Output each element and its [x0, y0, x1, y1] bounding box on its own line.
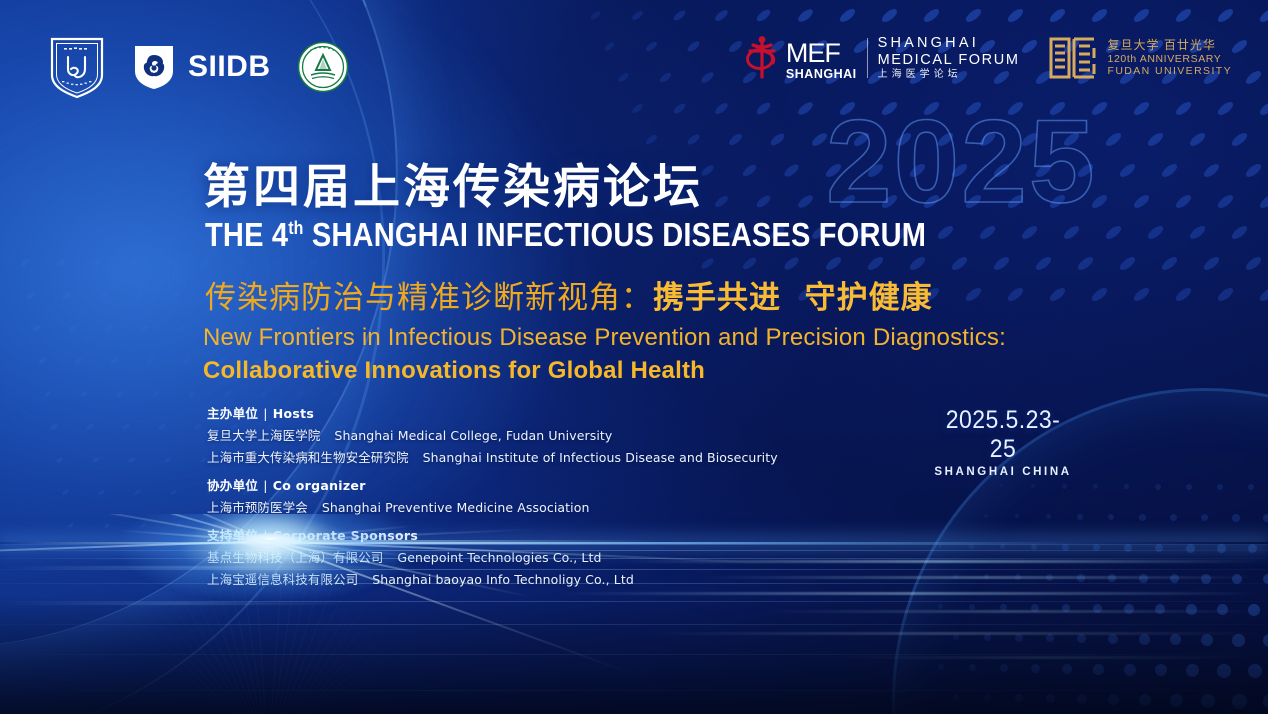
subtitle-cn-emphasis-2: 守护健康: [805, 280, 933, 316]
siidb-logo: SIIDB: [132, 43, 271, 91]
subtitle-english-line1: New Frontiers in Infectious Disease Prev…: [203, 324, 1006, 352]
organizer-heading-divider: |: [263, 478, 268, 493]
subtitle-cn-lead: 传染病防治与精准诊断新视角：: [205, 280, 653, 316]
fudan-university-en: FUDAN UNIVERSITY: [1108, 65, 1233, 78]
shanghai-medical-forum-logo: MEF SHANGHAI SHANGHAI MEDICAL FORUM 上海医学…: [740, 35, 1020, 81]
mef-chinese-text: 上海医学论坛: [878, 69, 1020, 81]
organizer-entry-cn: 上海市重大传染病和生物安全研究院: [207, 450, 409, 465]
siidb-shield-icon: [132, 43, 176, 91]
organizer-entry-cn: 复旦大学上海医学院: [207, 428, 320, 443]
mef-caduceus-icon: [740, 35, 784, 81]
page-title-chinese: 第四届上海传染病论坛: [203, 148, 703, 217]
organizer-entry-en: Shanghai Medical College, Fudan Universi…: [334, 428, 612, 443]
year-watermark: 2025: [826, 103, 1097, 221]
fudan-anniversary-en: 120th ANNIVERSARY: [1108, 53, 1233, 66]
shanghai-medical-college-fudan-crest-icon: [48, 36, 106, 98]
page-title-english: THE 4th SHANGHAI INFECTIOUS DISEASES FOR…: [205, 216, 926, 254]
subtitle-chinese: 传染病防治与精准诊断新视角：携手共进 守护健康: [205, 272, 933, 317]
organizer-entry-cn: 上海市预防医学会: [207, 500, 308, 515]
fudan-seal-glyph-icon: [1048, 34, 1098, 82]
light-streak: [0, 566, 420, 569]
light-streak: [620, 560, 1260, 563]
bottom-light-scene: [0, 514, 1268, 714]
right-logo-bar: MEF SHANGHAI SHANGHAI MEDICAL FORUM 上海医学…: [740, 34, 1232, 82]
organizer-heading: 协办单位|Co organizer: [207, 475, 778, 494]
title-en-prefix: THE 4: [205, 216, 288, 253]
organizer-heading-en: Hosts: [273, 406, 314, 421]
event-date-block: 2025.5.23-25 SHANGHAI CHINA: [933, 406, 1073, 478]
light-streak: [700, 576, 1260, 579]
organizer-heading-divider: |: [263, 406, 268, 421]
organizer-entry: 上海市重大传染病和生物安全研究院Shanghai Institute of In…: [207, 447, 778, 466]
organizer-heading-cn: 协办单位: [207, 478, 258, 493]
fudan-anniversary-cn: 复旦大学 百廿光华: [1108, 38, 1233, 53]
organizer-entry: 复旦大学上海医学院Shanghai Medical College, Fudan…: [207, 425, 778, 444]
light-burst: [118, 514, 418, 602]
organizer-heading-en: Co organizer: [273, 478, 366, 493]
organizer-entry-en: Shanghai Institute of Infectious Disease…: [423, 450, 778, 465]
organizer-heading: 主办单位|Hosts: [207, 403, 778, 422]
mef-divider: [867, 38, 868, 78]
title-en-ordinal: th: [288, 218, 303, 238]
organizer-entry-en: Shanghai Preventive Medicine Association: [322, 500, 590, 515]
event-date: 2025.5.23-25: [939, 406, 1068, 464]
subtitle-cn-emphasis-1: 携手共进: [653, 280, 781, 316]
fudan-120-anniversary-logo: 复旦大学 百廿光华 120th ANNIVERSARY FUDAN UNIVER…: [1048, 34, 1233, 82]
subtitle-english-line2: Collaborative Innovations for Global Hea…: [203, 357, 705, 385]
green-seal-icon: [297, 41, 349, 93]
mef-shanghai-text: SHANGHAI: [878, 35, 1020, 52]
left-logo-bar: SIIDB: [48, 36, 349, 98]
organizer-heading-cn: 主办单位: [207, 406, 258, 421]
mef-shanghai-label: SHANGHAI: [786, 68, 857, 81]
event-location: SHANGHAI CHINA: [933, 466, 1073, 478]
mef-medical-forum-text: MEDICAL FORUM: [878, 52, 1020, 69]
siidb-wordmark: SIIDB: [188, 50, 271, 84]
conference-poster: 2025: [0, 0, 1268, 714]
mef-wordmark: MEF: [786, 40, 840, 67]
bottom-vignette: [0, 594, 1268, 714]
title-en-rest: SHANGHAI INFECTIOUS DISEASES FORUM: [304, 216, 927, 253]
